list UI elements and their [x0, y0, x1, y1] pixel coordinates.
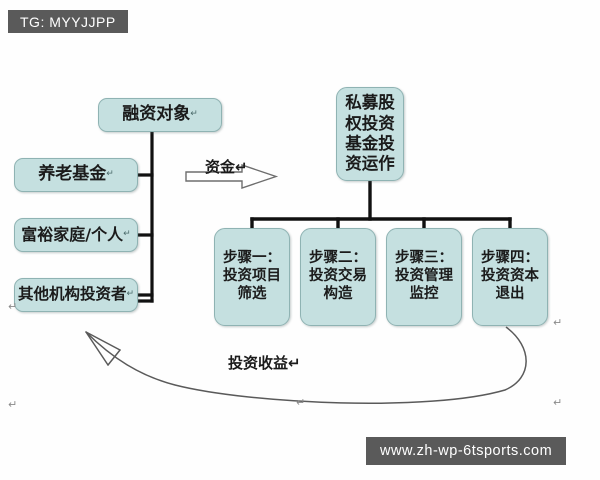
return-mark-icon: ↵ — [190, 109, 198, 120]
node-step-2[interactable]: 步骤二： 投资交易 构造 — [300, 228, 376, 326]
return-mark-icon: ↵ — [106, 169, 114, 180]
node-wealthy-family-label: 富裕家庭/个人 — [21, 225, 123, 245]
label-investment-returns-text: 投资收益 — [228, 354, 288, 372]
return-mark-icon: ↵ — [296, 396, 305, 409]
return-mark-icon: ↵ — [123, 229, 131, 240]
return-mark-icon: ↵ — [553, 396, 562, 409]
node-financing-target-label: 融资对象 — [122, 104, 190, 125]
node-financing-target[interactable]: 融资对象↵ — [98, 98, 222, 132]
node-other-institution[interactable]: 其他机构投资者↵ — [14, 278, 138, 312]
node-pension-fund[interactable]: 养老基金↵ — [14, 158, 138, 192]
return-mark-icon: ↵ — [553, 316, 562, 329]
node-step-3-label: 步骤三： 投资管理 监控 — [395, 250, 453, 304]
node-step-4-label: 步骤四： 投资资本 退出 — [481, 250, 539, 304]
tg-handle-badge: TG: MYYJJPP — [8, 10, 128, 33]
node-other-institution-label: 其他机构投资者 — [18, 285, 127, 304]
node-step-1-label: 步骤一： 投资项目 筛选 — [223, 250, 281, 304]
node-step-2-label: 步骤二： 投资交易 构造 — [309, 250, 367, 304]
node-wealthy-family[interactable]: 富裕家庭/个人↵ — [14, 218, 138, 252]
return-mark-icon: ↵ — [8, 398, 17, 411]
site-watermark-badge: www.zh-wp-6tsports.com — [366, 437, 566, 465]
investor-tree-connectors — [138, 132, 152, 301]
label-investment-returns: 投资收益↵ — [228, 352, 301, 373]
node-step-3[interactable]: 步骤三： 投资管理 监控 — [386, 228, 462, 326]
diagram-canvas: 融资对象↵ 养老基金↵ 富裕家庭/个人↵ 其他机构投资者↵ 私募股 权投资 基金… — [0, 0, 600, 480]
returns-feedback-curve — [86, 327, 526, 403]
step-tree-connectors — [252, 181, 510, 228]
return-mark-icon: ↵ — [235, 158, 248, 176]
node-step-1[interactable]: 步骤一： 投资项目 筛选 — [214, 228, 290, 326]
node-step-4[interactable]: 步骤四： 投资资本 退出 — [472, 228, 548, 326]
return-mark-icon: ↵ — [126, 289, 134, 300]
return-mark-icon: ↵ — [8, 300, 17, 313]
label-capital-flow-text: 资金 — [205, 158, 235, 176]
node-pe-fund-operation-label: 私募股 权投资 基金投 资运作 — [345, 93, 395, 175]
node-pension-fund-label: 养老基金 — [38, 164, 106, 185]
return-mark-icon: ↵ — [288, 354, 301, 372]
label-capital-flow: 资金↵ — [205, 156, 248, 177]
node-pe-fund-operation[interactable]: 私募股 权投资 基金投 资运作 — [336, 87, 404, 181]
